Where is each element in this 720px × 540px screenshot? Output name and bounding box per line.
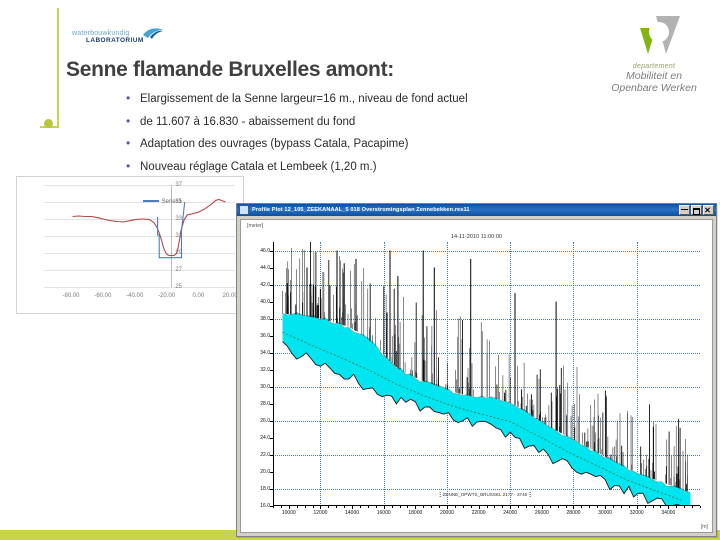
vlaanderen-triangle-icon (626, 14, 682, 58)
x-axis-tick-label: 34000 (661, 510, 675, 516)
gridline (44, 287, 235, 288)
x-axis-tick-label: 20000 (440, 510, 454, 516)
cross-section-chart: 25272931333537-80.00-60.00-40.00-20.000.… (16, 176, 244, 314)
x-axis-minor-tick (502, 506, 503, 508)
y-axis-unit-label: [meter] (247, 223, 263, 229)
accent-dot (44, 119, 53, 128)
x-axis-line (273, 505, 700, 506)
x-axis-tick-label: 16000 (377, 510, 391, 516)
x-axis-minor-tick (542, 506, 543, 508)
x-axis-minor-tick (700, 506, 701, 508)
x-axis-minor-tick (336, 506, 337, 508)
x-axis-minor-tick (550, 506, 551, 508)
x-axis-minor-tick (684, 506, 685, 508)
x-axis-minor-tick (668, 506, 669, 508)
logo-right-line2: Openbare Werken (598, 82, 710, 94)
x-axis-minor-tick (589, 506, 590, 508)
x-axis-minor-tick (320, 506, 321, 508)
x-axis-minor-tick (510, 506, 511, 508)
bullet-item: Adaptation des ouvrages (bypass Catala, … (124, 133, 554, 156)
x-axis-minor-tick (400, 506, 401, 508)
x-axis-minor-tick (471, 506, 472, 508)
x-axis-minor-tick (613, 506, 614, 508)
x-axis-minor-tick (573, 506, 574, 508)
x-axis-minor-tick (487, 506, 488, 508)
x-axis-minor-tick (660, 506, 661, 508)
logo-mobiliteit-openbare-werken: departement Mobiliteit en Openbare Werke… (598, 14, 710, 104)
x-axis-unit-label: [m] (701, 524, 708, 530)
x-axis-minor-tick (479, 506, 480, 508)
x-axis-minor-tick (297, 506, 298, 508)
wave-swoosh-icon (142, 26, 164, 40)
window-titlebar[interactable]: Profile Plot 12_105_ZEEKANAAL_5 018 Over… (237, 204, 716, 216)
x-axis-minor-tick (447, 506, 448, 508)
x-axis-tick-label: 12000 (313, 510, 327, 516)
x-axis-minor-tick (360, 506, 361, 508)
y-axis-tick-label: 26.0 (260, 418, 270, 424)
x-axis-minor-tick (439, 506, 440, 508)
bullet-list: Elargissement de la Senne largeur=16 m.,… (124, 88, 554, 178)
x-axis-minor-tick (376, 506, 377, 508)
logo-right-line1: Mobiliteit en (598, 70, 710, 82)
x-axis-minor-tick (645, 506, 646, 508)
longitudinal-plot-area[interactable]: 46.044.042.040.038.036.034.032.030.028.0… (273, 242, 700, 506)
cross-section-plot-area: 25272931333537-80.00-60.00-40.00-20.000.… (44, 185, 235, 287)
y-axis-tick-label: 38.0 (260, 316, 270, 322)
page-title: Senne flamande Bruxelles amont: (66, 58, 394, 82)
logo-right-department: departement (598, 63, 710, 70)
x-axis-minor-tick (494, 506, 495, 508)
series-Series1 (73, 200, 226, 256)
x-axis-minor-tick (653, 506, 654, 508)
y-axis-line (273, 242, 274, 506)
x-axis-tick-label: 22000 (472, 510, 486, 516)
x-axis-tick-label: 14000 (345, 510, 359, 516)
x-axis-minor-tick (534, 506, 535, 508)
legend-label: Series1 (162, 199, 182, 205)
x-axis-minor-tick (305, 506, 306, 508)
x-axis-tick-label: 28000 (567, 510, 581, 516)
x-axis-minor-tick (352, 506, 353, 508)
x-axis-minor-tick (392, 506, 393, 508)
timestamp-label: 14-11-2010 11:00:00 (241, 234, 712, 240)
x-axis-minor-tick (313, 506, 314, 508)
chart-legend: Series1 (143, 199, 182, 205)
x-axis-minor-tick (423, 506, 424, 508)
x-axis-minor-tick (605, 506, 606, 508)
profile-series (273, 242, 700, 506)
bullet-item: de 11.607 à 16.830 - abaissement du fond (124, 111, 554, 134)
x-axis-minor-tick (637, 506, 638, 508)
cross-section-lines (44, 185, 235, 287)
y-axis-tick-label: 36.0 (260, 333, 270, 339)
x-axis-minor-tick (431, 506, 432, 508)
profile-plot-window[interactable]: Profile Plot 12_105_ZEEKANAAL_5 018 Over… (236, 203, 717, 537)
x-axis-minor-tick (455, 506, 456, 508)
x-axis-minor-tick (518, 506, 519, 508)
logo-waterbouwkundig-laboratorium: waterbouwkundig LABORATORIUM (66, 16, 166, 52)
y-axis-tick-label: 28.0 (260, 401, 270, 407)
x-axis-minor-tick (273, 506, 274, 508)
x-axis-minor-tick (692, 506, 693, 508)
x-axis-minor-tick (676, 506, 677, 508)
x-axis-minor-tick (407, 506, 408, 508)
x-axis-minor-tick (328, 506, 329, 508)
x-axis-minor-tick (629, 506, 630, 508)
legend-swatch (143, 200, 159, 202)
x-axis-minor-tick (289, 506, 290, 508)
y-axis-tick-label: 16.0 (260, 503, 270, 509)
x-axis-minor-tick (415, 506, 416, 508)
x-axis-minor-tick (281, 506, 282, 508)
x-axis-minor-tick (597, 506, 598, 508)
mike-profile-plot-icon (239, 205, 249, 215)
bullet-item: Nouveau réglage Catala et Lembeek (1,20 … (124, 156, 554, 179)
water-body-area (283, 313, 691, 507)
x-axis-tick-label: 26000 (535, 510, 549, 516)
y-axis-tick-label: 40.0 (260, 299, 270, 305)
y-axis-tick-label: 34.0 (260, 350, 270, 356)
y-axis-tick-label: 32.0 (260, 367, 270, 373)
y-axis-tick-label: 24.0 (260, 435, 270, 441)
x-axis-minor-tick (368, 506, 369, 508)
window-title: Profile Plot 12_105_ZEEKANAAL_5 018 Over… (252, 207, 679, 213)
x-axis-tick-label: 24000 (503, 510, 517, 516)
logo-left-line2: LABORATORIUM (86, 37, 144, 44)
y-axis-tick-label: 42.0 (260, 282, 270, 288)
x-axis-minor-tick (384, 506, 385, 508)
x-axis-minor-tick (558, 506, 559, 508)
x-axis-minor-tick (344, 506, 345, 508)
window-client-area[interactable]: [meter] 14-11-2010 11:00:00 [m] 46.044.0… (240, 219, 713, 533)
y-axis-tick-label: 46.0 (260, 248, 270, 254)
maximize-button[interactable] (691, 205, 702, 215)
accent-line-vertical (57, 8, 59, 128)
x-axis-minor-tick (566, 506, 567, 508)
bullet-item: Elargissement de la Senne largeur=16 m.,… (124, 88, 554, 111)
window-buttons[interactable] (679, 205, 714, 215)
close-button[interactable] (703, 205, 714, 215)
x-axis-minor-tick (463, 506, 464, 508)
x-axis-minor-tick (581, 506, 582, 508)
y-axis-tick-label: 22.0 (260, 452, 270, 458)
minimize-button[interactable] (679, 205, 690, 215)
x-axis-tick-label: 32000 (630, 510, 644, 516)
y-axis-tick-label: 20.0 (260, 469, 270, 475)
x-axis-tick-label: 30000 (598, 510, 612, 516)
x-axis-minor-tick (621, 506, 622, 508)
series-design-profile (157, 202, 185, 258)
y-axis-tick-label: 18.0 (260, 486, 270, 492)
y-axis-tick-label: 44.0 (260, 265, 270, 271)
x-axis-tick-label: 18000 (408, 510, 422, 516)
x-axis-minor-tick (526, 506, 527, 508)
logo-left-line1: waterbouwkundig (72, 30, 129, 37)
y-axis-tick-label: 30.0 (260, 384, 270, 390)
x-axis-tick-label: 10000 (282, 510, 296, 516)
